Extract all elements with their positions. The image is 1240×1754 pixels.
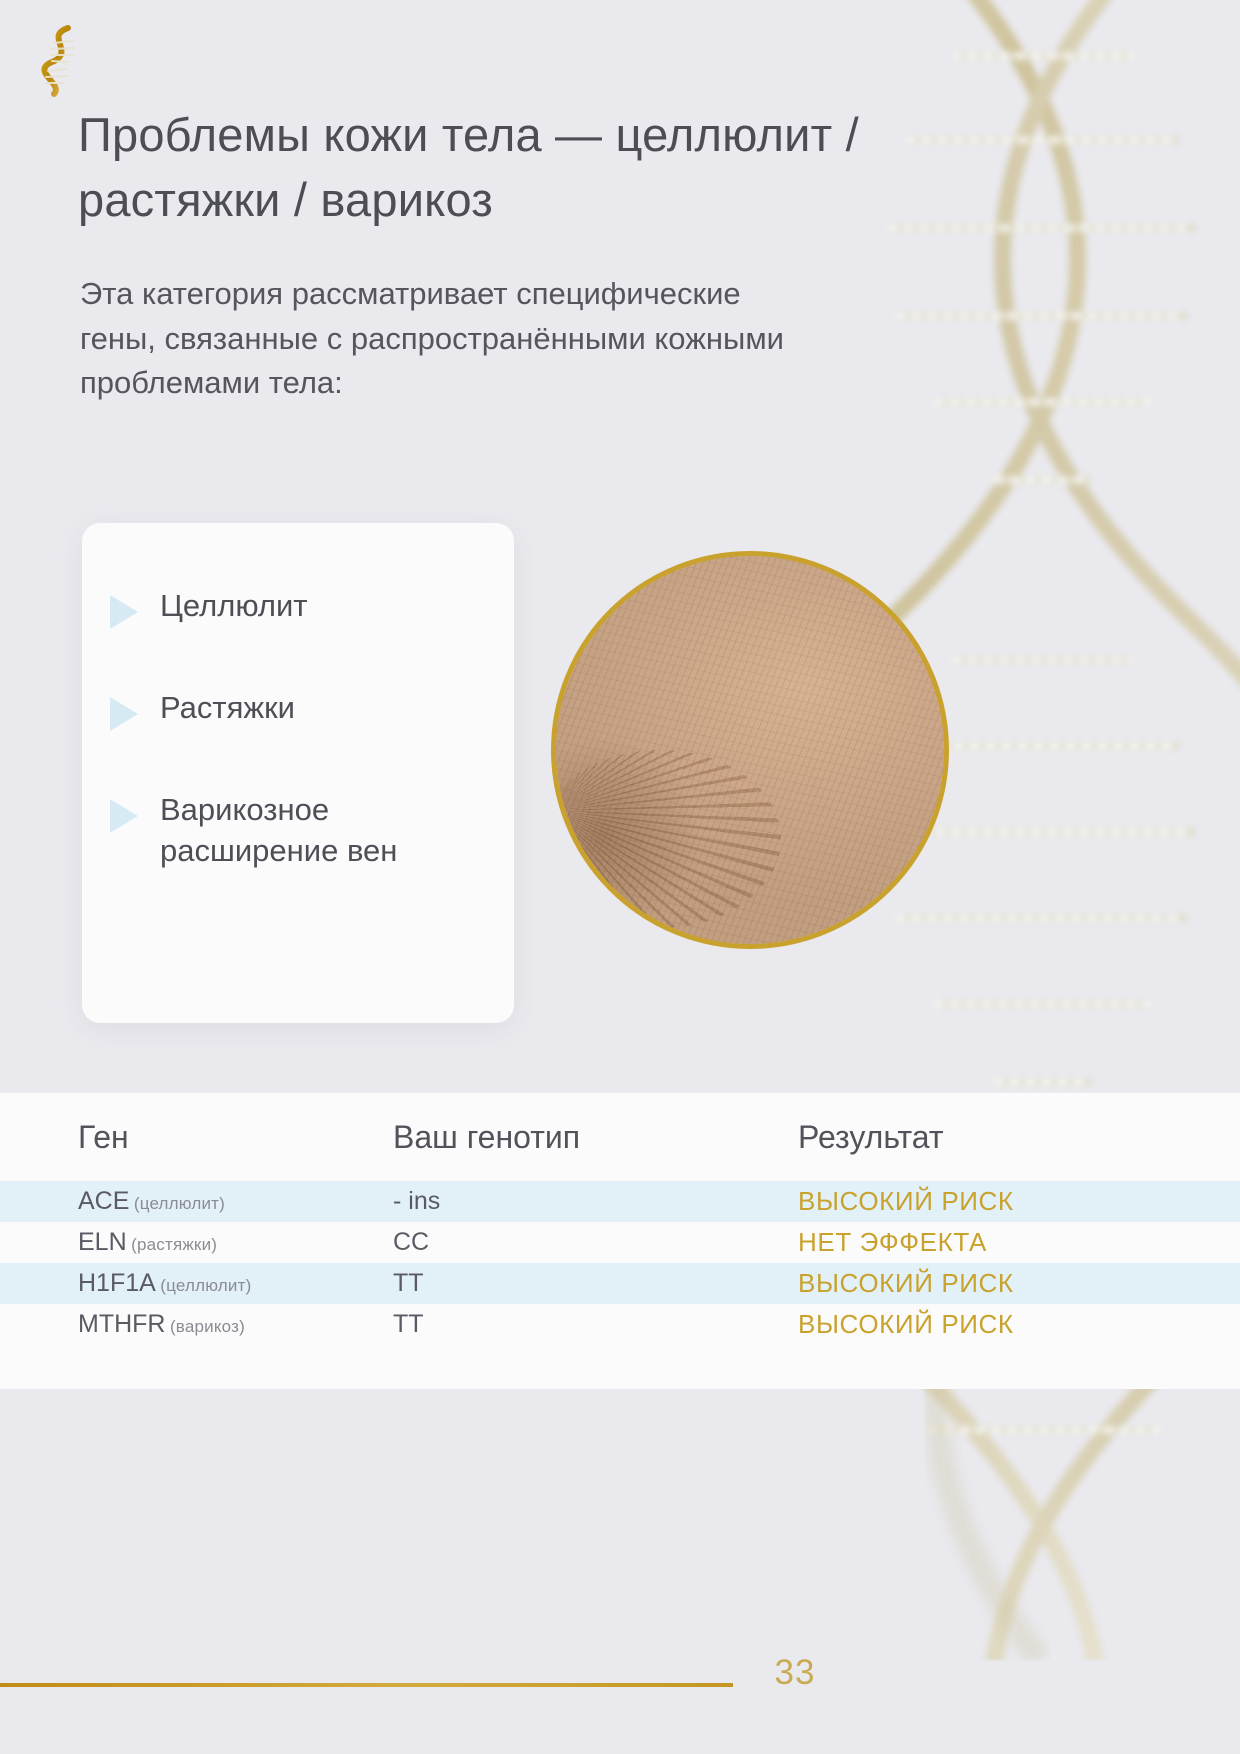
- table-row: MTHFR (варикоз) TT ВЫСОКИЙ РИСК: [0, 1304, 1240, 1345]
- table-row: ACE (целлюлит) - ins ВЫСОКИЙ РИСК: [0, 1181, 1240, 1222]
- list-item: Целлюлит: [110, 585, 482, 629]
- triangle-bullet-icon: [110, 595, 138, 629]
- cell-result: ВЫСОКИЙ РИСК: [798, 1268, 1162, 1299]
- genotype-table: Ген Ваш генотип Результат ACE (целлюлит)…: [0, 1093, 1240, 1389]
- gene-name: ELN: [78, 1228, 127, 1256]
- page-number: 33: [735, 1653, 855, 1693]
- skin-cellulite-photo: [551, 551, 949, 949]
- footer-divider: [0, 1683, 733, 1687]
- list-item: Варикозное расширение вен: [110, 789, 482, 871]
- cell-genotype: - ins: [393, 1187, 798, 1216]
- table-bottom-padding: [0, 1345, 1240, 1389]
- cell-genotype: CC: [393, 1228, 798, 1257]
- photo-texture: [556, 556, 944, 944]
- page-title: Проблемы кожи тела — целлюлит / растяжки…: [78, 103, 958, 233]
- cell-genotype: TT: [393, 1310, 798, 1339]
- conditions-card: Целлюлит Растяжки Варикозное расширение …: [82, 523, 514, 1023]
- cell-gene: ACE (целлюлит): [78, 1187, 393, 1216]
- column-header-genotype: Ваш генотип: [393, 1119, 798, 1156]
- list-item-label: Варикозное расширение вен: [160, 789, 482, 871]
- cell-result: НЕТ ЭФФЕКТА: [798, 1227, 1162, 1258]
- column-header-gene: Ген: [78, 1119, 393, 1156]
- cell-genotype: TT: [393, 1269, 798, 1298]
- gene-note: (варикоз): [170, 1317, 245, 1336]
- cell-result: ВЫСОКИЙ РИСК: [798, 1309, 1162, 1340]
- list-item: Растяжки: [110, 687, 482, 731]
- gene-note: (целлюлит): [134, 1194, 225, 1213]
- triangle-bullet-icon: [110, 799, 138, 833]
- gene-name: ACE: [78, 1187, 129, 1215]
- cell-result: ВЫСОКИЙ РИСК: [798, 1186, 1162, 1217]
- triangle-bullet-icon: [110, 697, 138, 731]
- slide-page: Проблемы кожи тела — целлюлит / растяжки…: [0, 0, 1240, 1754]
- intro-paragraph: Эта категория рассматривает специфически…: [80, 272, 810, 406]
- cell-gene: H1F1A (целлюлит): [78, 1269, 393, 1298]
- gene-name: H1F1A: [78, 1269, 156, 1297]
- column-header-result: Результат: [798, 1119, 1162, 1156]
- table-row: ELN (растяжки) CC НЕТ ЭФФЕКТА: [0, 1222, 1240, 1263]
- gene-note: (целлюлит): [160, 1276, 251, 1295]
- cell-gene: ELN (растяжки): [78, 1228, 393, 1257]
- table-header-row: Ген Ваш генотип Результат: [0, 1093, 1240, 1181]
- cell-gene: MTHFR (варикоз): [78, 1310, 393, 1339]
- table-row: H1F1A (целлюлит) TT ВЫСОКИЙ РИСК: [0, 1263, 1240, 1304]
- list-item-label: Растяжки: [160, 687, 295, 728]
- dna-helix-icon: [34, 22, 86, 98]
- gene-note: (растяжки): [131, 1235, 217, 1254]
- list-item-label: Целлюлит: [160, 585, 308, 626]
- gene-name: MTHFR: [78, 1310, 165, 1338]
